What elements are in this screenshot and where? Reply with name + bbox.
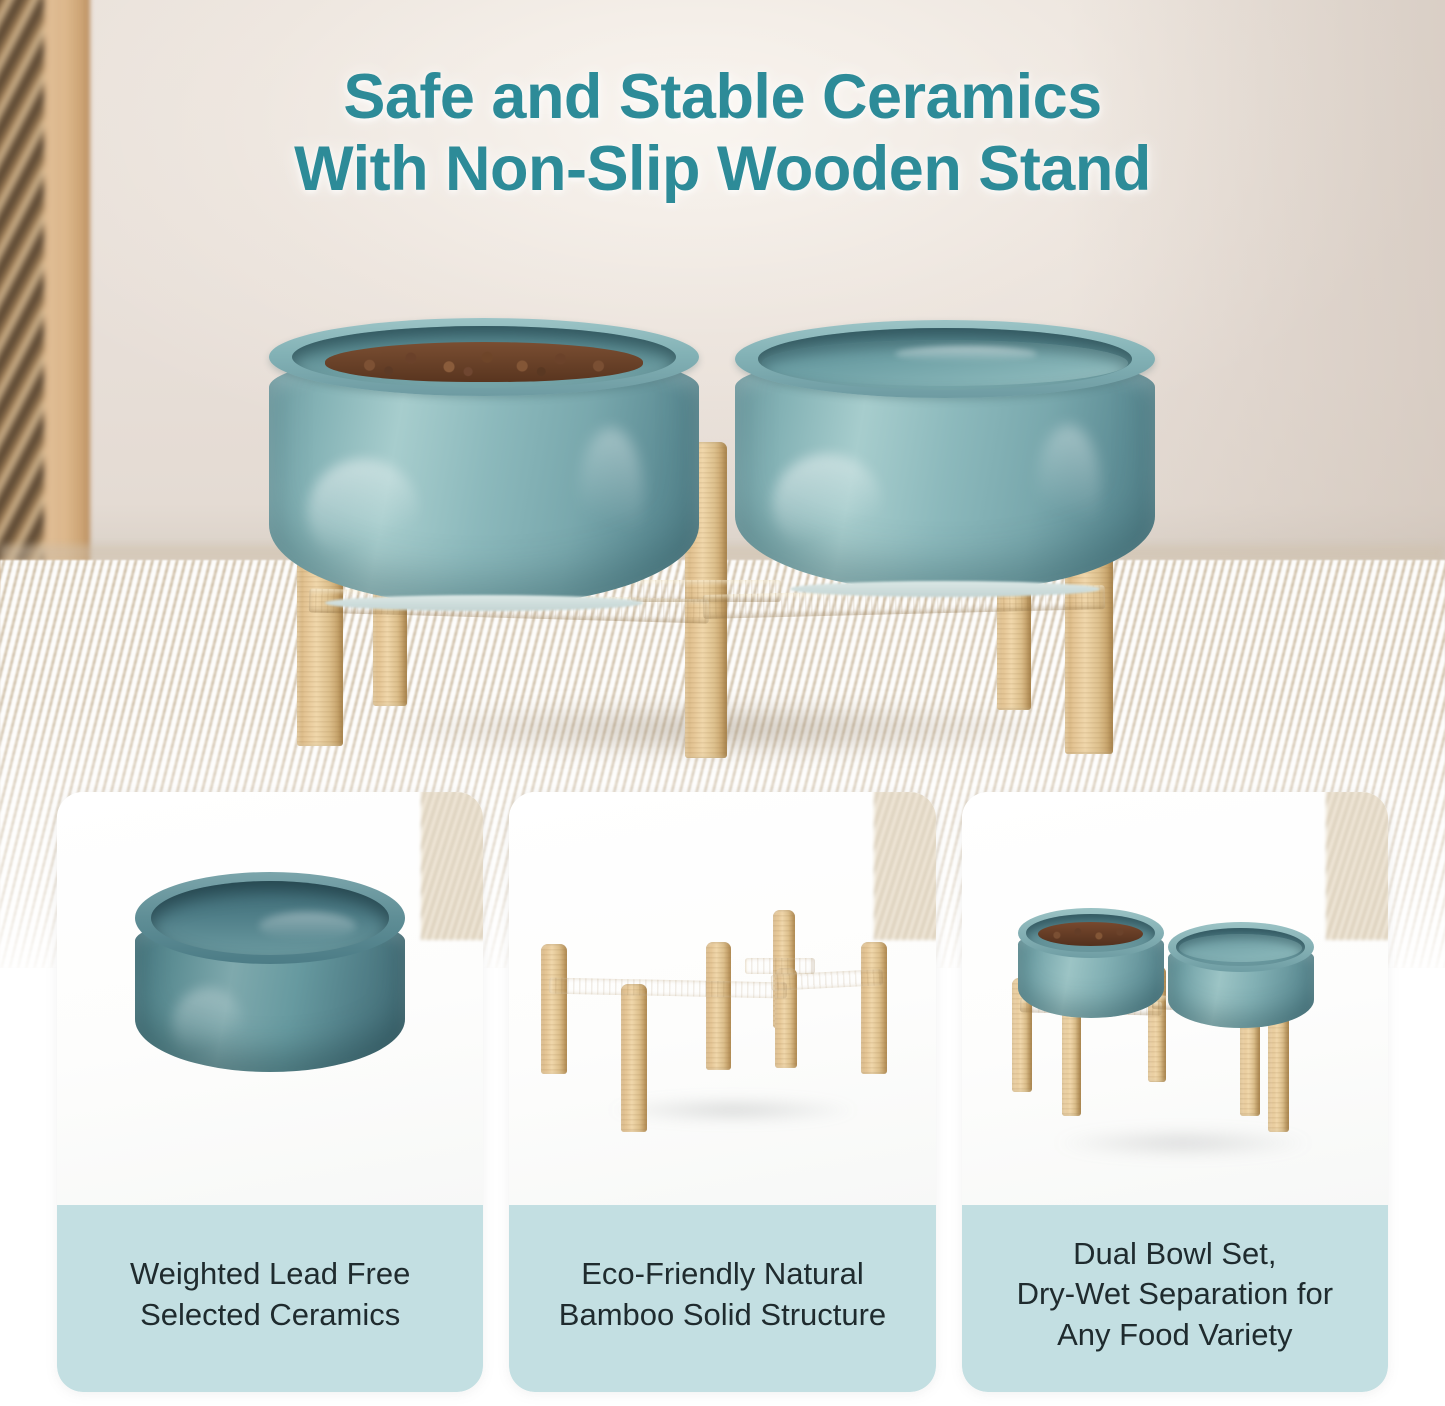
set-dry-food-kibble — [1038, 922, 1143, 946]
dual-bowl-set-photo — [962, 792, 1388, 1205]
hero-left-bowl — [269, 318, 699, 606]
card-caption-dual-set: Dual Bowl Set, Dry-Wet Separation for An… — [962, 1205, 1388, 1392]
water-reflection — [895, 346, 1038, 362]
left-bowl-highlight — [308, 459, 420, 566]
dry-food-kibble — [325, 342, 643, 382]
right-bowl-foot — [790, 581, 1101, 597]
set-water-bowl — [1168, 922, 1314, 1028]
set-food-bowl — [1018, 908, 1164, 1018]
card-stand-post-middle — [706, 942, 731, 1070]
card-stand-rail-joint — [745, 958, 815, 974]
single-bowl-inner-shine — [259, 912, 356, 940]
standalone-bamboo-stand — [509, 792, 935, 1205]
page-title: Safe and Stable Ceramics With Non-Slip W… — [0, 62, 1445, 206]
right-bowl-highlight — [773, 454, 882, 554]
set-leg-front-right — [1268, 1012, 1289, 1132]
feature-card-row: Weighted Lead Free Selected Ceramics — [57, 792, 1388, 1392]
photo-rug-corner — [421, 792, 483, 940]
single-ceramic-bowl-photo — [57, 792, 483, 1205]
left-bowl-highlight-secondary — [579, 428, 644, 560]
feature-card-dual-set[interactable]: Dual Bowl Set, Dry-Wet Separation for An… — [962, 792, 1388, 1392]
set-water-surface — [1179, 934, 1302, 962]
hero-product-group — [255, 300, 1195, 780]
card-stand-leg-front-left — [621, 984, 647, 1132]
card-caption-bamboo: Eco-Friendly Natural Bamboo Solid Struct… — [509, 1205, 935, 1392]
set-leg-front-left — [1062, 1008, 1081, 1116]
right-bowl-highlight-secondary — [1037, 425, 1100, 549]
single-bowl — [135, 872, 405, 1072]
feature-card-ceramics[interactable]: Weighted Lead Free Selected Ceramics — [57, 792, 483, 1392]
card-caption-ceramics: Weighted Lead Free Selected Ceramics — [57, 1205, 483, 1392]
left-bowl-foot — [325, 595, 643, 611]
card-stand-leg-back-left — [541, 944, 567, 1074]
bamboo-stand-photo — [509, 792, 935, 1205]
hero-right-bowl — [735, 320, 1155, 592]
dual-bowl-set — [962, 792, 1388, 1205]
feature-card-bamboo[interactable]: Eco-Friendly Natural Bamboo Solid Struct… — [509, 792, 935, 1392]
single-bowl-highlight — [173, 988, 243, 1060]
card-stand-rail-left — [549, 978, 787, 999]
card-stand-leg-right — [861, 942, 887, 1074]
